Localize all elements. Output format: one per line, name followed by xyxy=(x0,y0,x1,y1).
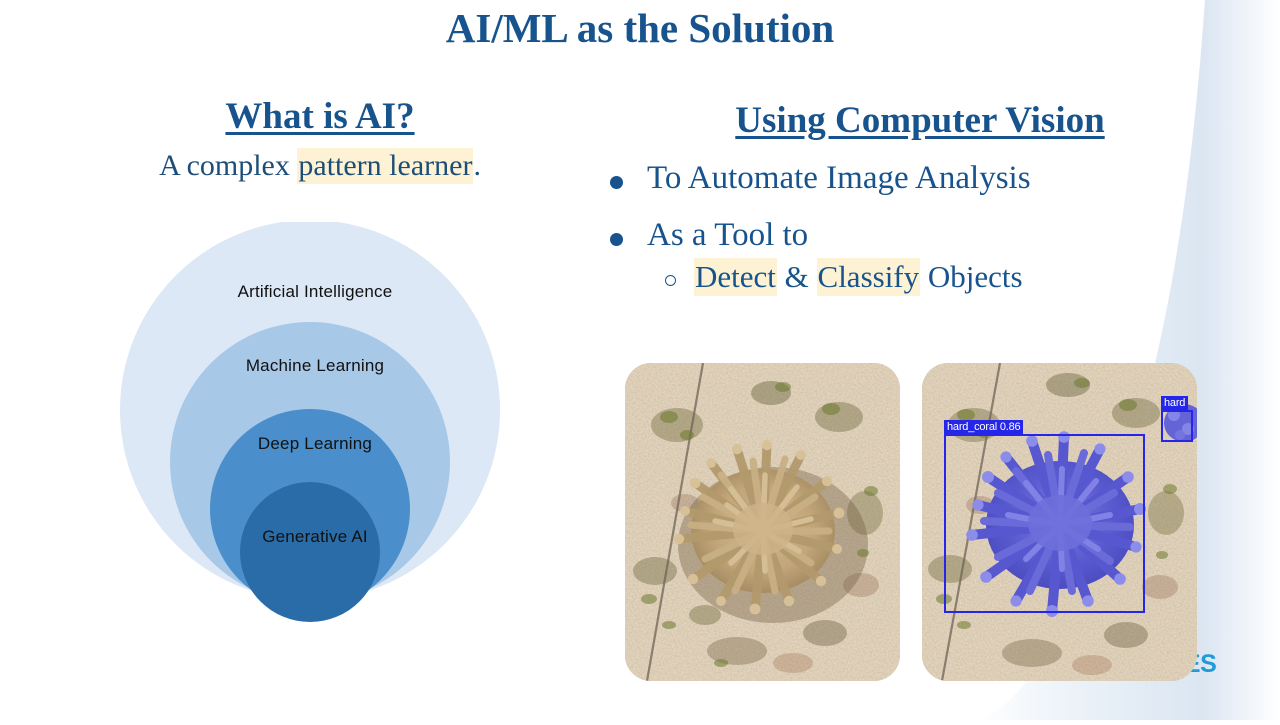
ring-generative-ai xyxy=(240,482,380,622)
bullet-text-automate: To Automate Image Analysis xyxy=(647,159,1031,198)
list-item: As a Tool to xyxy=(610,216,1270,255)
list-item: To Automate Image Analysis xyxy=(610,159,1270,198)
sub-list-item: Detect & Classify Objects xyxy=(665,259,1270,296)
right-column: Using Computer Vision To Automate Image … xyxy=(610,100,1270,296)
subbullet-objects: Objects xyxy=(920,259,1022,294)
left-subtitle: A complex pattern learner. xyxy=(60,149,580,184)
coral-photo-raw xyxy=(625,363,900,681)
ring-label-machine-learning: Machine Learning xyxy=(110,356,520,376)
page-title: AI/ML as the Solution xyxy=(0,4,1280,52)
subbullet-ampersand: & xyxy=(777,259,817,294)
left-subtitle-suffix: . xyxy=(473,149,481,182)
detection-label-hard-coral-partial: hard xyxy=(1161,396,1188,410)
ring-label-generative-ai: Generative AI xyxy=(110,527,520,547)
subbullet-text-detect-classify: Detect & Classify Objects xyxy=(694,259,1023,296)
subbullet-highlight-classify: Classify xyxy=(817,258,921,296)
detection-box-hard-coral xyxy=(944,434,1145,613)
nested-ai-circles-diagram: Artificial Intelligence Machine Learning… xyxy=(110,222,520,622)
bullet-dot-icon xyxy=(610,233,623,246)
right-heading: Using Computer Vision xyxy=(610,100,1270,141)
left-subtitle-prefix: A complex xyxy=(159,149,297,182)
hollow-bullet-icon xyxy=(665,275,676,286)
left-column: What is AI? A complex pattern learner. xyxy=(60,96,580,184)
detection-label-hard-coral: hard_coral 0.86 xyxy=(944,420,1023,434)
left-heading: What is AI? xyxy=(60,96,580,137)
left-subtitle-highlight: pattern learner xyxy=(297,148,473,184)
detection-box-hard-coral-partial xyxy=(1161,410,1193,442)
bullet-dot-icon xyxy=(610,176,623,189)
ring-label-deep-learning: Deep Learning xyxy=(110,434,520,454)
subbullet-highlight-detect: Detect xyxy=(694,258,777,296)
ring-label-artificial-intelligence: Artificial Intelligence xyxy=(110,282,520,302)
bullet-text-as-a-tool: As a Tool to xyxy=(647,216,808,255)
